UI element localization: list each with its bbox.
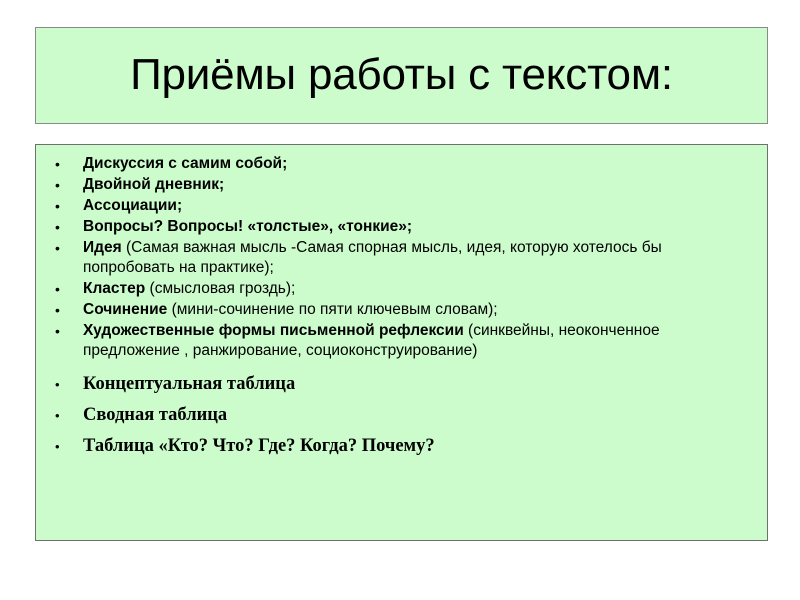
content-placeholder[interactable]: • Дискуссия с самим собой; • Двойной дне… — [35, 144, 768, 541]
bullet-dot-icon: • — [55, 300, 69, 320]
list-item[interactable]: • Художественные формы письменной рефлек… — [44, 321, 753, 361]
list-item-lead: Таблица «Кто? Что? Где? Когда? Почему? — [83, 436, 435, 456]
list-item-lead: Сводная таблица — [83, 405, 227, 425]
bullet-dot-icon: • — [55, 238, 69, 258]
list-item[interactable]: • Идея (Самая важная мысль -Самая спорна… — [44, 238, 753, 278]
bullet-dot-icon: • — [55, 154, 69, 174]
page-title: Приёмы работы с текстом: — [130, 52, 673, 98]
list-item-lead: Концептуальная таблица — [83, 374, 295, 394]
list-item-lead: Идея — [83, 239, 122, 256]
list-item-lead: Ассоциации; — [83, 197, 182, 214]
bullet-dot-icon: • — [55, 370, 69, 399]
list-item-lead: Сочинение — [83, 301, 167, 318]
list-item-rest: (смысловая гроздь); — [145, 280, 295, 297]
bullet-dot-icon: • — [55, 175, 69, 195]
list-item[interactable]: • Сочинение (мини-сочинение по пяти ключ… — [44, 300, 753, 320]
bullet-dot-icon: • — [55, 279, 69, 299]
list-item[interactable]: • Кластер (смысловая гроздь); — [44, 279, 753, 299]
list-spacer — [44, 362, 753, 368]
list-item[interactable]: • Таблица «Кто? Что? Где? Когда? Почему? — [44, 432, 753, 461]
list-item-rest: (мини-сочинение по пяти ключевым словам)… — [167, 301, 497, 318]
list-item-lead: Кластер — [83, 280, 145, 297]
list-item[interactable]: • Вопросы? Вопросы! «толстые», «тонкие»; — [44, 217, 753, 237]
list-item-lead: Двойной дневник; — [83, 176, 224, 193]
title-placeholder[interactable]: Приёмы работы с текстом: — [35, 27, 768, 124]
bullet-dot-icon: • — [55, 321, 69, 341]
bullet-dot-icon: • — [55, 432, 69, 461]
list-item[interactable]: • Дискуссия с самим собой; — [44, 154, 753, 174]
list-item[interactable]: • Концептуальная таблица — [44, 370, 753, 399]
list-item-lead: Вопросы? Вопросы! «толстые», «тонкие»; — [83, 218, 412, 235]
bullet-dot-icon: • — [55, 217, 69, 237]
list-item-rest: (Самая важная мысль -Самая спорная мысль… — [83, 239, 662, 276]
list-item-lead: Дискуссия с самим собой; — [83, 155, 287, 172]
bullet-dot-icon: • — [55, 401, 69, 430]
bullet-list: • Дискуссия с самим собой; • Двойной дне… — [44, 154, 753, 461]
list-item-lead: Художественные формы письменной рефлекси… — [83, 322, 464, 339]
list-item[interactable]: • Ассоциации; — [44, 196, 753, 216]
list-item[interactable]: • Двойной дневник; — [44, 175, 753, 195]
bullet-dot-icon: • — [55, 196, 69, 216]
slide-canvas: Приёмы работы с текстом: • Дискуссия с с… — [0, 0, 800, 600]
list-item[interactable]: • Сводная таблица — [44, 401, 753, 430]
